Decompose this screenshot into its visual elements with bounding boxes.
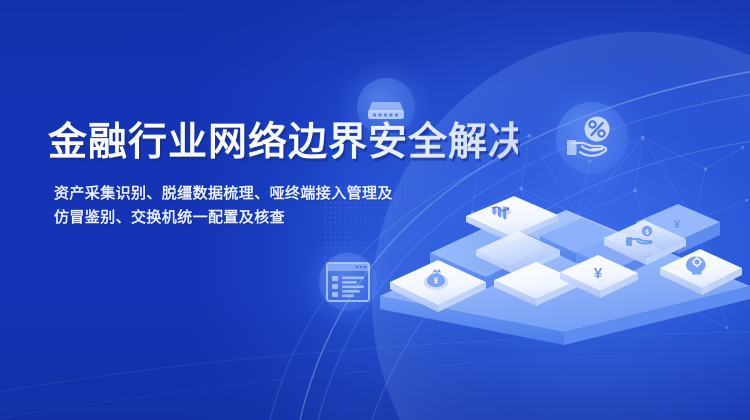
- hand-percent-icon: [559, 105, 625, 171]
- svg-text:¥: ¥: [434, 277, 439, 286]
- subtitle-line-1: 资产采集识别、脱缰数据梳理、哑终端接入管理及: [54, 182, 518, 206]
- page-title: 金融行业网络边界安全解决方案: [48, 118, 518, 168]
- document-list-icon: [321, 257, 375, 307]
- subtitle-line-2: 仿冒鉴别、交换机统一配置及核查: [54, 206, 518, 230]
- finance-network-security-banner: ¥ ¥: [0, 0, 750, 420]
- svg-text:$: $: [645, 229, 649, 236]
- page-subtitle: 资产采集识别、脱缰数据梳理、哑终端接入管理及 仿冒鉴别、交换机统一配置及核查: [54, 182, 518, 230]
- yen-currency-icon: ¥: [594, 265, 603, 282]
- network-switch-icon: [359, 80, 413, 134]
- banner-text-block: 金融行业网络边界安全解决方案 资产采集识别、脱缰数据梳理、哑终端接入管理及 仿冒…: [48, 118, 518, 230]
- yen-small-icon: ¥: [674, 219, 681, 231]
